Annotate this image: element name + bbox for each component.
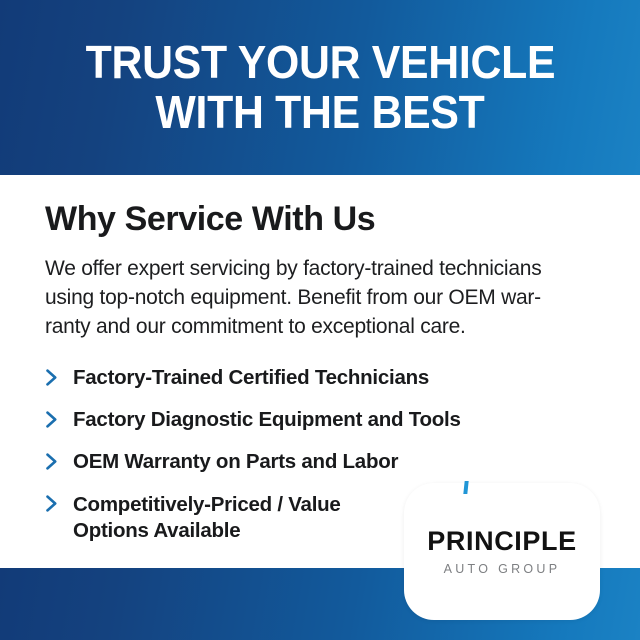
logo-wordmark: PRINCIPLE <box>427 528 576 555</box>
chevron-right-icon <box>45 407 62 431</box>
list-item-line: Options Available <box>73 518 341 544</box>
header-banner: TRUST YOUR VEHICLE WITH THE BEST <box>0 0 640 175</box>
list-item-line: Factory Diagnostic Equipment and Tools <box>73 407 461 433</box>
list-item: OEM Warranty on Parts and Labor <box>45 449 605 475</box>
paragraph-line: ranty and our commitment to exceptional … <box>45 313 605 342</box>
list-item-line: OEM Warranty on Parts and Labor <box>73 449 398 475</box>
list-item-label: Factory-Trained Certified Technicians <box>73 365 429 391</box>
service-promo-ad: TRUST YOUR VEHICLE WITH THE BEST Why Ser… <box>0 0 640 640</box>
list-item-label: Factory Diagnostic Equipment and Tools <box>73 407 461 433</box>
page-title: Why Service With Us <box>45 202 375 236</box>
list-item-line: Competitively-Priced / Value <box>73 492 341 518</box>
headline-line-2: WITH THE BEST <box>155 89 484 137</box>
logo-accent-mark <box>463 481 468 494</box>
list-item-label: Competitively-Priced / Value Options Ava… <box>73 492 341 544</box>
chevron-right-icon <box>45 449 62 473</box>
chevron-right-icon <box>45 365 62 389</box>
logo-tagline: AUTO GROUP <box>444 563 561 576</box>
list-item: Factory Diagnostic Equipment and Tools <box>45 407 605 433</box>
intro-paragraph: We offer expert servicing by factory-tra… <box>45 255 605 342</box>
chevron-right-icon <box>45 492 62 516</box>
brand-logo-card: PRINCIPLE AUTO GROUP <box>404 483 600 620</box>
list-item-label: OEM Warranty on Parts and Labor <box>73 449 398 475</box>
paragraph-line: We offer expert servicing by factory-tra… <box>45 255 605 284</box>
headline-line-1: TRUST YOUR VEHICLE <box>85 39 555 87</box>
list-item-line: Factory-Trained Certified Technicians <box>73 365 429 391</box>
list-item: Factory-Trained Certified Technicians <box>45 365 605 391</box>
paragraph-line: using top-notch equipment. Benefit from … <box>45 284 605 313</box>
